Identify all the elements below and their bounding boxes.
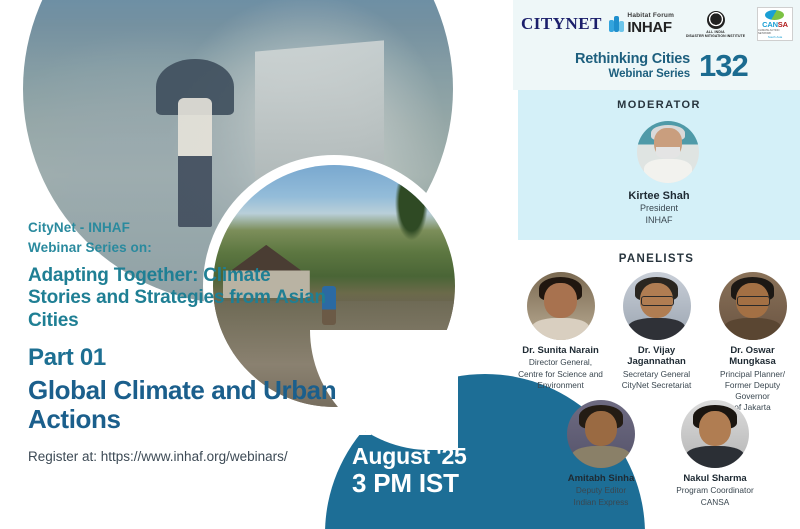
- panelist-card: Dr. Sunita Narain Director General,Centr…: [516, 272, 606, 413]
- register-link[interactable]: Register at: https://www.inhaf.org/webin…: [28, 449, 338, 464]
- inhaf-logo: Habitat Forum INHAF: [609, 13, 674, 35]
- moderator-body-shape: [644, 159, 691, 183]
- left-copy-block: CityNet - INHAF Webinar Series on: Adapt…: [28, 218, 338, 464]
- inhaf-logo-text: Habitat Forum INHAF: [627, 13, 674, 35]
- moderator-name: Kirtee Shah: [518, 190, 800, 202]
- panelists-row-1: Dr. Sunita Narain Director General,Centr…: [513, 272, 800, 413]
- series-line-1: Rethinking Cities: [575, 51, 690, 68]
- panelist-role: Secretary GeneralCityNet Secretariat: [612, 369, 702, 391]
- panelist-avatar: [719, 272, 787, 340]
- moderator-label: MODERATOR: [518, 99, 800, 111]
- date-time: 3 PM IST: [352, 470, 512, 497]
- part-title: Global Climate and Urban Actions: [28, 376, 338, 435]
- webinar-poster: 19th August '25 3 PM IST CityNet - INHAF…: [0, 0, 800, 529]
- panelists-row-2: Amitabh Sinha Deputy EditorIndian Expres…: [548, 400, 768, 508]
- inhaf-people-icon: [609, 16, 624, 33]
- cansa-wordmark-sa: SA: [778, 20, 788, 29]
- aidmi-line-2: DISASTER MITIGATION INSTITUTE: [682, 34, 750, 38]
- panelist-avatar: [681, 400, 749, 468]
- panelist-name: Amitabh Sinha: [556, 473, 646, 484]
- cansa-wordmark-can: CAN: [762, 20, 778, 29]
- cansa-wordmark: CANSA: [762, 20, 788, 29]
- panelists-label: PANELISTS: [513, 253, 800, 265]
- kicker-line-1: CityNet - INHAF: [28, 218, 338, 238]
- series-words: Rethinking Cities Webinar Series: [575, 51, 690, 82]
- kicker-line-2: Webinar Series on:: [28, 238, 338, 258]
- umbrella-shape: [156, 59, 233, 115]
- eyeglasses-icon: [737, 296, 770, 306]
- moderator-role: President INHAF: [518, 203, 800, 227]
- panelist-role: Director General,Centre for Science andE…: [516, 357, 606, 390]
- eyeglasses-icon: [641, 296, 674, 306]
- panelist-name: Dr. Sunita Narain: [516, 345, 606, 356]
- date-month: August '25: [352, 445, 512, 468]
- panelist-name: Dr. Oswar Mungkasa: [708, 345, 798, 368]
- panelist-card: Nakul Sharma Program CoordinatorCANSA: [670, 400, 760, 508]
- panelist-card: Dr. Oswar Mungkasa Principal Planner/For…: [708, 272, 798, 413]
- moderator-beard-shape: [656, 147, 681, 159]
- panelist-role: Program CoordinatorCANSA: [670, 485, 760, 507]
- part-label: Part 01: [28, 344, 338, 372]
- logo-row: CITYNET Habitat Forum INHAF ALL INDIA DI…: [521, 6, 793, 42]
- cansa-logo: CANSA CLIMATE ACTION NETWORK South Asia: [757, 7, 793, 41]
- cansa-swoosh-icon: [765, 10, 784, 20]
- person-shape: [178, 98, 212, 227]
- panelist-avatar: [567, 400, 635, 468]
- panelist-avatar: [623, 272, 691, 340]
- panelist-name: Dr. Vijay Jagannathan: [612, 345, 702, 368]
- date-badge-text: 19th August '25 3 PM IST: [352, 405, 512, 497]
- moderator-avatar: [637, 121, 699, 183]
- panelist-card: Amitabh Sinha Deputy EditorIndian Expres…: [556, 400, 646, 508]
- cansa-region: South Asia: [768, 35, 782, 39]
- series-number: 132: [699, 48, 748, 84]
- date-day: 19th: [352, 405, 512, 442]
- moderator-title: President: [518, 203, 800, 215]
- aidmi-globe-icon: [707, 11, 725, 29]
- date-day-number: 19: [352, 402, 391, 443]
- aidmi-logo: ALL INDIA DISASTER MITIGATION INSTITUTE: [682, 11, 750, 38]
- panelist-card: Dr. Vijay Jagannathan Secretary GeneralC…: [612, 272, 702, 413]
- date-day-suffix: th: [391, 407, 406, 426]
- citynet-logo: CITYNET: [521, 14, 602, 34]
- series-title: Adapting Together: Climate Stories and S…: [28, 265, 338, 332]
- moderator-org: INHAF: [518, 215, 800, 227]
- panelist-role: Deputy EditorIndian Express: [556, 485, 646, 507]
- kicker: CityNet - INHAF Webinar Series on:: [28, 218, 338, 257]
- series-line-2: Webinar Series: [575, 68, 690, 82]
- palm-tree-shape: [392, 184, 431, 247]
- inhaf-wordmark: INHAF: [627, 20, 674, 35]
- panelist-name: Nakul Sharma: [670, 473, 760, 484]
- series-heading: Rethinking Cities Webinar Series 132: [575, 48, 748, 84]
- panelist-avatar: [527, 272, 595, 340]
